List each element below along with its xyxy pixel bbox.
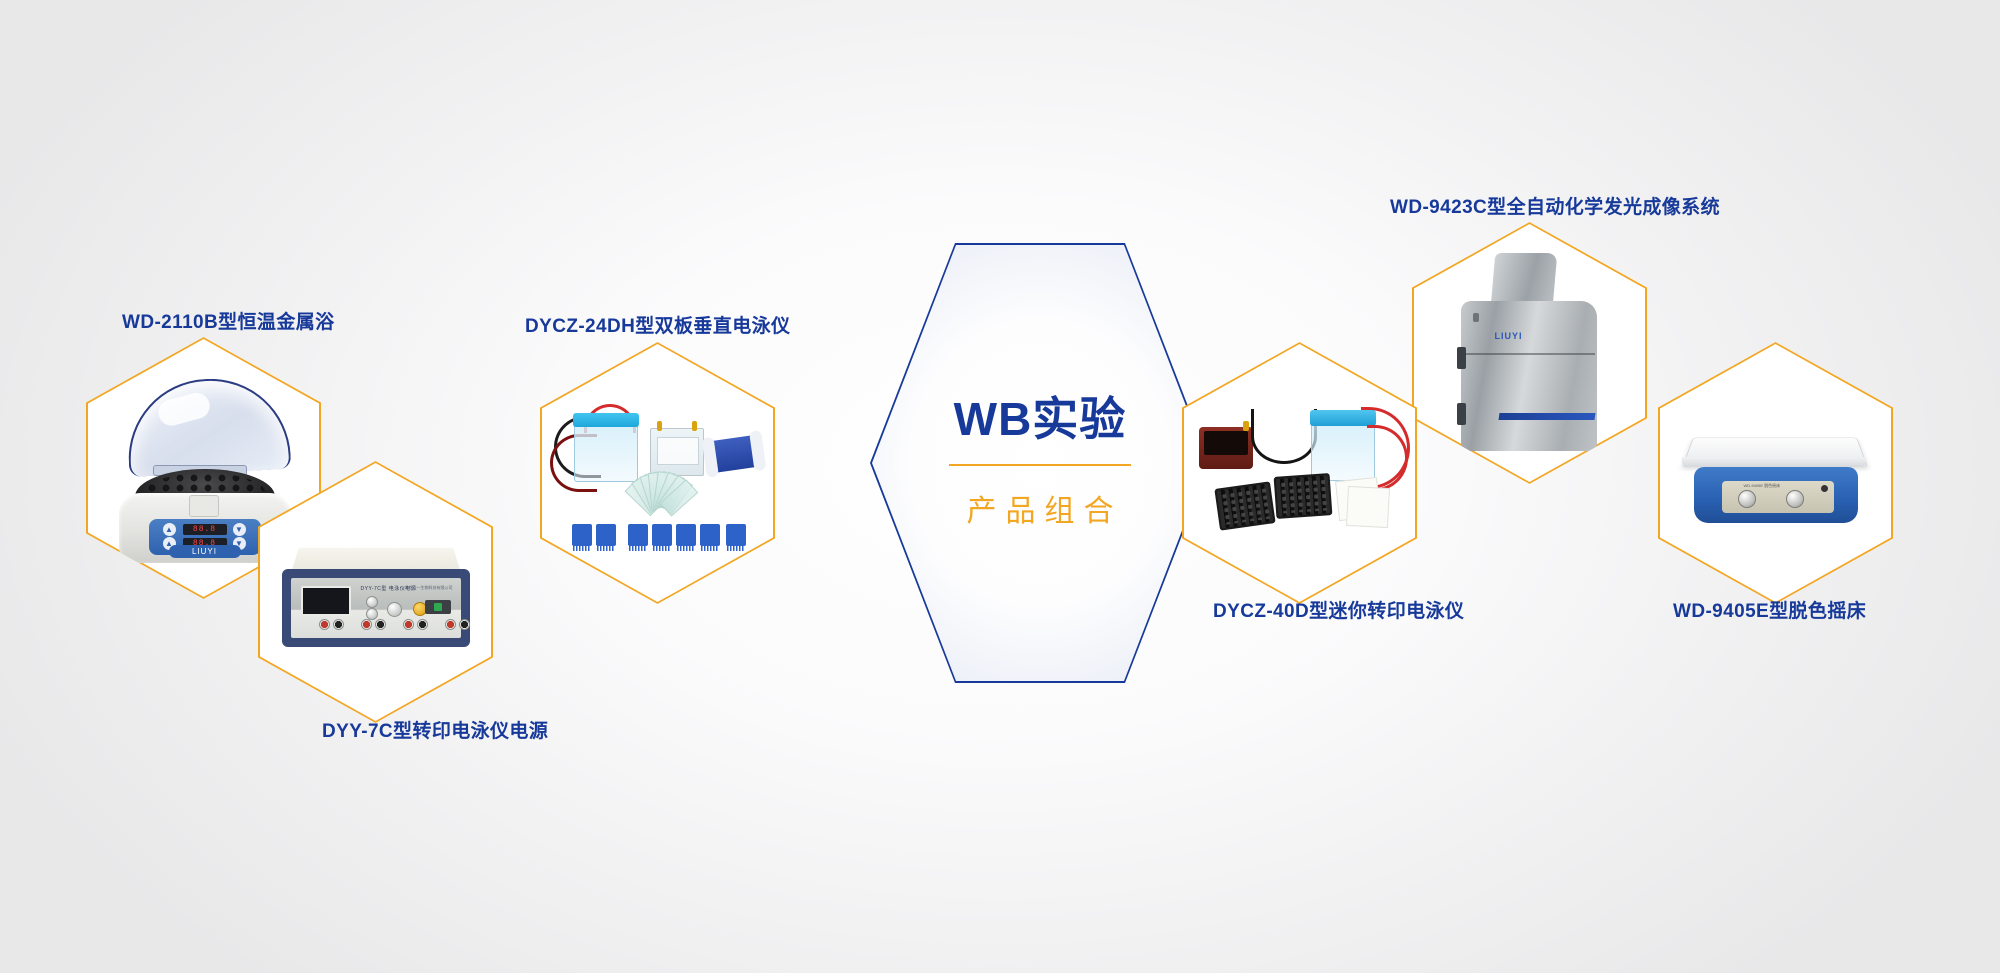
power-supply-illustration: DYY-7C型 电泳仪电源 北京六一生物科技有限公司: [278, 525, 474, 659]
label-imaging-system: WD-9423C型全自动化学发光成像系统: [1390, 192, 1720, 219]
shaker-control-panel: WD-9405E 脱色摇床: [1722, 481, 1834, 513]
jack-pair-3[interactable]: [403, 618, 429, 630]
hexagon-imaging-system[interactable]: LIUYI: [1412, 222, 1647, 484]
transfer-cassette-2: [1273, 473, 1332, 519]
imaging-cabinet: [1461, 301, 1597, 451]
transfer-cassette-1: [1214, 481, 1275, 530]
label-power-supply: DYY-7C型转印电泳仪电源: [322, 716, 548, 743]
glass-plate-casting-frame: [650, 428, 704, 476]
shaker-tray-lip: [1682, 457, 1866, 467]
hexagon-decolor-shaker[interactable]: WD-9405E 脱色摇床: [1658, 342, 1893, 604]
down-arrow-icon: ▼: [233, 523, 246, 536]
center-divider: [949, 464, 1131, 466]
power-switch[interactable]: [425, 600, 451, 614]
power-supply-faceplate: DYY-7C型 电泳仪电源 北京六一生物科技有限公司: [291, 578, 461, 638]
imaging-port-1: [1457, 347, 1466, 369]
product-image-imaging-system: LIUYI: [1412, 222, 1647, 484]
gel-combs: [570, 516, 750, 546]
glass-plates-fan: [594, 478, 710, 514]
up-arrow-icon: ▲: [163, 523, 176, 536]
imaging-door-seam: [1463, 353, 1595, 355]
power-supply-knob-3[interactable]: [387, 602, 402, 617]
filter-paper-2: [1345, 486, 1389, 528]
jack-pair-4[interactable]: [445, 618, 471, 630]
product-image-vertical-electrophoresis: [540, 342, 775, 604]
product-image-decolor-shaker: WD-9405E 脱色摇床: [1658, 342, 1893, 604]
imaging-system-illustration: LIUYI: [1455, 253, 1605, 453]
vertical-electrophoresis-illustration: [558, 398, 758, 548]
imaging-port-2: [1457, 403, 1466, 425]
power-supply-output-jacks: [297, 618, 455, 632]
shaker-timer-knob[interactable]: [1786, 490, 1804, 508]
shaker-power-led: [1821, 485, 1828, 492]
center-title: WB实验: [954, 396, 1127, 442]
imaging-side-button: [1473, 313, 1479, 322]
frame-screw-1: [657, 421, 662, 431]
shaker-speed-knob[interactable]: [1738, 490, 1756, 508]
power-supply-panel-subtitle: 北京六一生物科技有限公司: [405, 585, 453, 591]
shaker-panel-label: WD-9405E 脱色摇床: [1744, 483, 1781, 489]
electrophoresis-tank: [574, 422, 638, 482]
product-image-mini-transfer: [1182, 342, 1417, 604]
decolor-shaker-illustration: WD-9405E 脱色摇床: [1676, 413, 1876, 533]
label-vertical-electrophoresis: DYCZ-24DH型双板垂直电泳仪: [525, 311, 790, 338]
power-supply-knob-1[interactable]: [366, 596, 378, 608]
center-hexagon: WB实验 产品组合: [870, 243, 1210, 683]
imaging-brand-logo: LIUYI: [1495, 331, 1523, 341]
mini-transfer-illustration: [1195, 403, 1405, 543]
gel-casting-clamp: [708, 435, 760, 473]
hexagon-vertical-electrophoresis[interactable]: [540, 342, 775, 604]
diagram-canvas: WB实验 产品组合 WD-2110B型恒温金属浴 ▲ 88.8 ▼ ▲: [0, 0, 2000, 973]
power-supply-front-bezel: DYY-7C型 电泳仪电源 北京六一生物科技有限公司: [282, 569, 470, 647]
tank-lid: [573, 413, 639, 427]
metal-bath-brand-logo: LIUYI: [169, 545, 241, 558]
jack-pair-2[interactable]: [361, 618, 387, 630]
imaging-accent-stripe: [1498, 413, 1595, 420]
metal-bath-latch: [189, 495, 219, 517]
frame-screw-2: [692, 421, 697, 431]
temp-display: 88.8: [183, 524, 227, 535]
label-metal-bath: WD-2110B型恒温金属浴: [122, 307, 335, 334]
label-mini-transfer: DYCZ-40D型迷你转印电泳仪: [1213, 596, 1464, 623]
jack-pair-1[interactable]: [319, 618, 345, 630]
power-supply-lcd: [301, 586, 351, 616]
center-hexagon-content: WB实验 产品组合: [870, 243, 1210, 683]
label-decolor-shaker: WD-9405E型脱色摇床: [1673, 596, 1866, 623]
transfer-electrode-module: [1199, 427, 1253, 469]
metal-bath-lid: [124, 375, 291, 477]
imaging-camera-hood: [1490, 253, 1557, 307]
hexagon-mini-transfer[interactable]: [1182, 342, 1417, 604]
transfer-black-cable: [1251, 409, 1317, 464]
electrode-pin: [1243, 421, 1249, 431]
center-subtitle: 产品组合: [958, 486, 1123, 530]
